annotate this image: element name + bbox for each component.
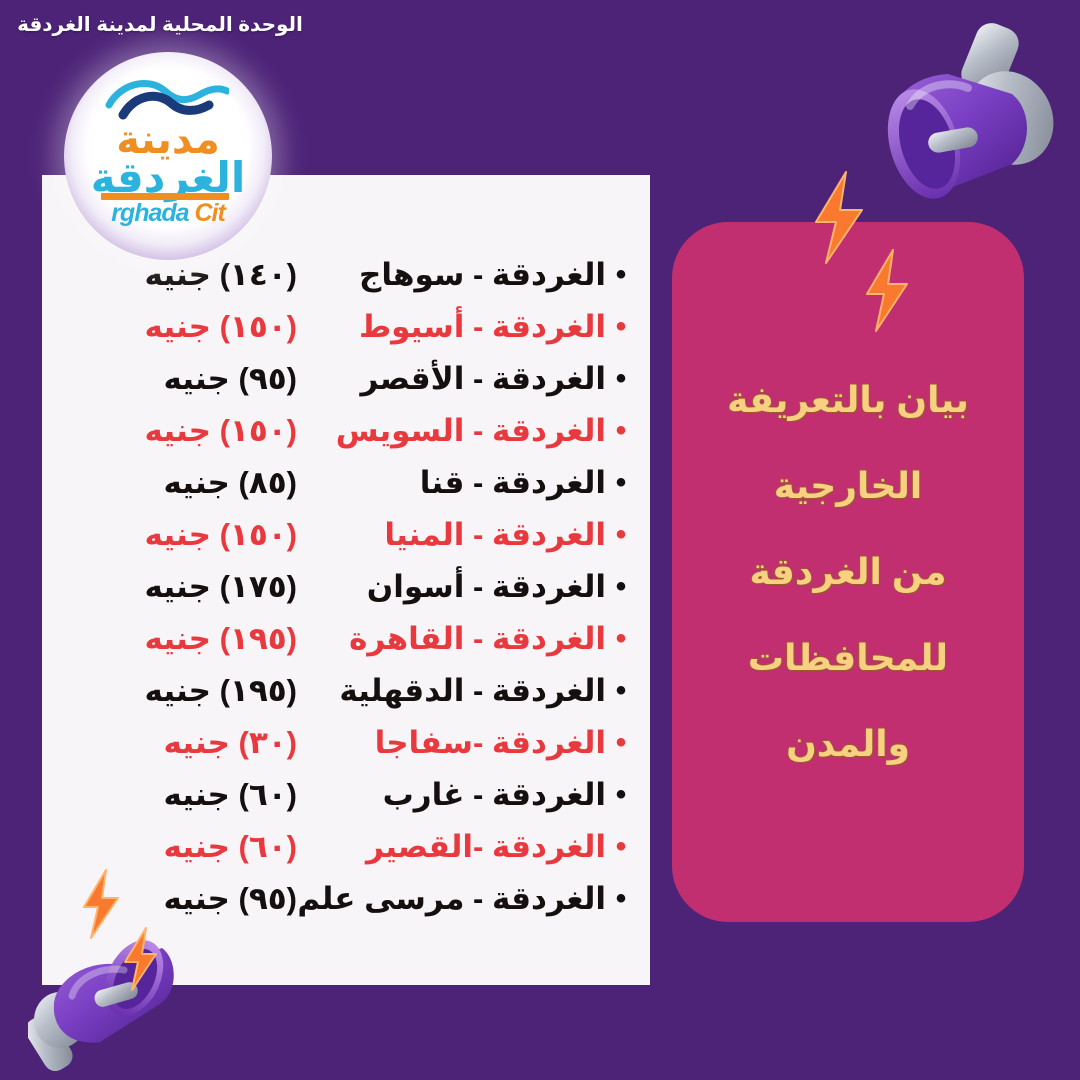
tariff-fare-value: (١٩٥) جنيه xyxy=(58,621,303,657)
tariff-row: •الغردقة - المنيا(١٥٠) جنيه xyxy=(58,509,634,561)
tariff-row: •الغردقة -القصير(٦٠) جنيه xyxy=(58,821,634,873)
megaphone-icon xyxy=(836,18,1066,248)
lightning-bolt-icon xyxy=(120,926,160,992)
row-bullet-icon: • xyxy=(608,416,634,446)
tariff-fare-value: (١٥٠) جنيه xyxy=(58,309,303,345)
tariff-row: •الغردقة - أسوان(١٧٥) جنيه xyxy=(58,561,634,613)
row-bullet-icon: • xyxy=(608,676,634,706)
tariff-route-label: الغردقة - الدقهلية xyxy=(303,673,608,709)
tariff-row: •الغردقة - الأقصر(٩٥) جنيه xyxy=(58,353,634,405)
wave-icon xyxy=(105,75,229,123)
tariff-fare-value: (١٩٥) جنيه xyxy=(58,673,303,709)
tariff-fare-value: (١٤٠) جنيه xyxy=(58,257,303,293)
tariff-fare-value: (١٧٥) جنيه xyxy=(58,569,303,605)
row-bullet-icon: • xyxy=(608,312,634,342)
tariff-row: •الغردقة - غارب(٦٠) جنيه xyxy=(58,769,634,821)
lightning-bolt-icon xyxy=(78,868,122,940)
tariff-route-label: الغردقة - سوهاج xyxy=(303,257,608,293)
tariff-route-label: الغردقة - السويس xyxy=(303,413,608,449)
row-bullet-icon: • xyxy=(608,624,634,654)
tariff-row: •الغردقة - القاهرة(١٩٥) جنيه xyxy=(58,613,634,665)
tariff-card: •الغردقة - سوهاج(١٤٠) جنيه•الغردقة - أسي… xyxy=(42,175,650,985)
tariff-route-label: الغردقة - غارب xyxy=(303,777,608,813)
hurghada-city-logo: مدينة الغردقة rghada Cit xyxy=(64,52,272,260)
organization-title: الوحدة المحلية لمدينة الغردقة xyxy=(0,12,320,37)
lightning-bolt-icon xyxy=(808,170,868,265)
row-bullet-icon: • xyxy=(608,780,634,810)
logo-latin-text: rghada Cit xyxy=(77,199,259,228)
logo-inner: مدينة الغردقة rghada Cit xyxy=(77,65,259,247)
tariff-route-label: الغردقة - مرسى علم xyxy=(303,881,608,917)
headline-line: بيان بالتعريفة xyxy=(727,379,969,421)
tariff-route-label: الغردقة - أسوان xyxy=(303,569,608,605)
headline-panel: بيان بالتعريفةالخارجيةمن الغردقةللمحافظا… xyxy=(672,222,1024,922)
tariff-route-label: الغردقة - القاهرة xyxy=(303,621,608,657)
tariff-fare-value: (٣٠) جنيه xyxy=(58,725,303,761)
row-bullet-icon: • xyxy=(608,572,634,602)
lightning-bolt-icon xyxy=(860,248,912,333)
row-bullet-icon: • xyxy=(608,520,634,550)
tariff-row: •الغردقة -سفاجا(٣٠) جنيه xyxy=(58,717,634,769)
row-bullet-icon: • xyxy=(608,728,634,758)
headline-line: والمدن xyxy=(786,723,910,765)
tariff-fare-value: (١٥٠) جنيه xyxy=(58,517,303,553)
tariff-row: •الغردقة - أسيوط(١٥٠) جنيه xyxy=(58,301,634,353)
tariff-fare-value: (١٥٠) جنيه xyxy=(58,413,303,449)
tariff-route-label: الغردقة - أسيوط xyxy=(303,309,608,345)
tariff-route-label: الغردقة -القصير xyxy=(303,829,608,865)
tariff-route-label: الغردقة - قنا xyxy=(303,465,608,501)
tariff-route-label: الغردقة -سفاجا xyxy=(303,725,608,761)
tariff-row: •الغردقة - السويس(١٥٠) جنيه xyxy=(58,405,634,457)
headline-line: للمحافظات xyxy=(748,637,948,679)
tariff-fare-value: (٨٥) جنيه xyxy=(58,465,303,501)
tariff-fare-value: (٩٥) جنيه xyxy=(58,361,303,397)
headline-line: من الغردقة xyxy=(749,551,946,593)
tariff-fare-value: (٦٠) جنيه xyxy=(58,829,303,865)
tariff-row: •الغردقة - قنا(٨٥) جنيه xyxy=(58,457,634,509)
row-bullet-icon: • xyxy=(608,364,634,394)
row-bullet-icon: • xyxy=(608,260,634,290)
tariff-route-label: الغردقة - المنيا xyxy=(303,517,608,553)
row-bullet-icon: • xyxy=(608,884,634,914)
tariff-route-label: الغردقة - الأقصر xyxy=(303,361,608,397)
poster-canvas: الوحدة المحلية لمدينة الغردقة مدينة الغر… xyxy=(0,0,1080,1080)
tariff-row: •الغردقة - الدقهلية(١٩٥) جنيه xyxy=(58,665,634,717)
headline-line: الخارجية xyxy=(774,465,923,507)
row-bullet-icon: • xyxy=(608,468,634,498)
tariff-list: •الغردقة - سوهاج(١٤٠) جنيه•الغردقة - أسي… xyxy=(58,249,634,925)
tariff-fare-value: (٦٠) جنيه xyxy=(58,777,303,813)
row-bullet-icon: • xyxy=(608,832,634,862)
